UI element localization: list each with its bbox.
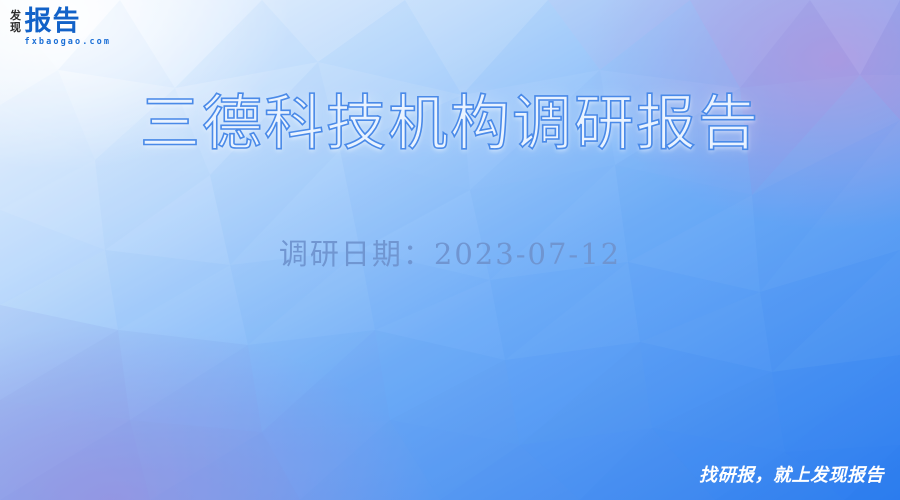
logo-url: fxbaogao.com (25, 37, 112, 48)
fxbaogao-logo[interactable]: 发 现 报告 fxbaogao.com (10, 8, 111, 48)
logo-main: 报告 fxbaogao.com (25, 8, 112, 48)
brand-tagline: 找研报，就上发现报告 (699, 464, 884, 488)
logo-char-xian: 现 (10, 22, 21, 34)
report-cover-slide: 发 现 报告 fxbaogao.com 三德科技机构调研报告 调研日期：2023… (0, 0, 900, 500)
logo-stacked-chars: 发 现 (10, 8, 21, 34)
page-title: 三德科技机构调研报告 (140, 90, 760, 158)
survey-date-line: 调研日期：2023-07-12 (279, 236, 621, 272)
subtitle-container: 调研日期：2023-07-12 (0, 236, 900, 272)
title-container: 三德科技机构调研报告 (0, 90, 900, 158)
logo-wordmark: 报告 (25, 8, 112, 36)
